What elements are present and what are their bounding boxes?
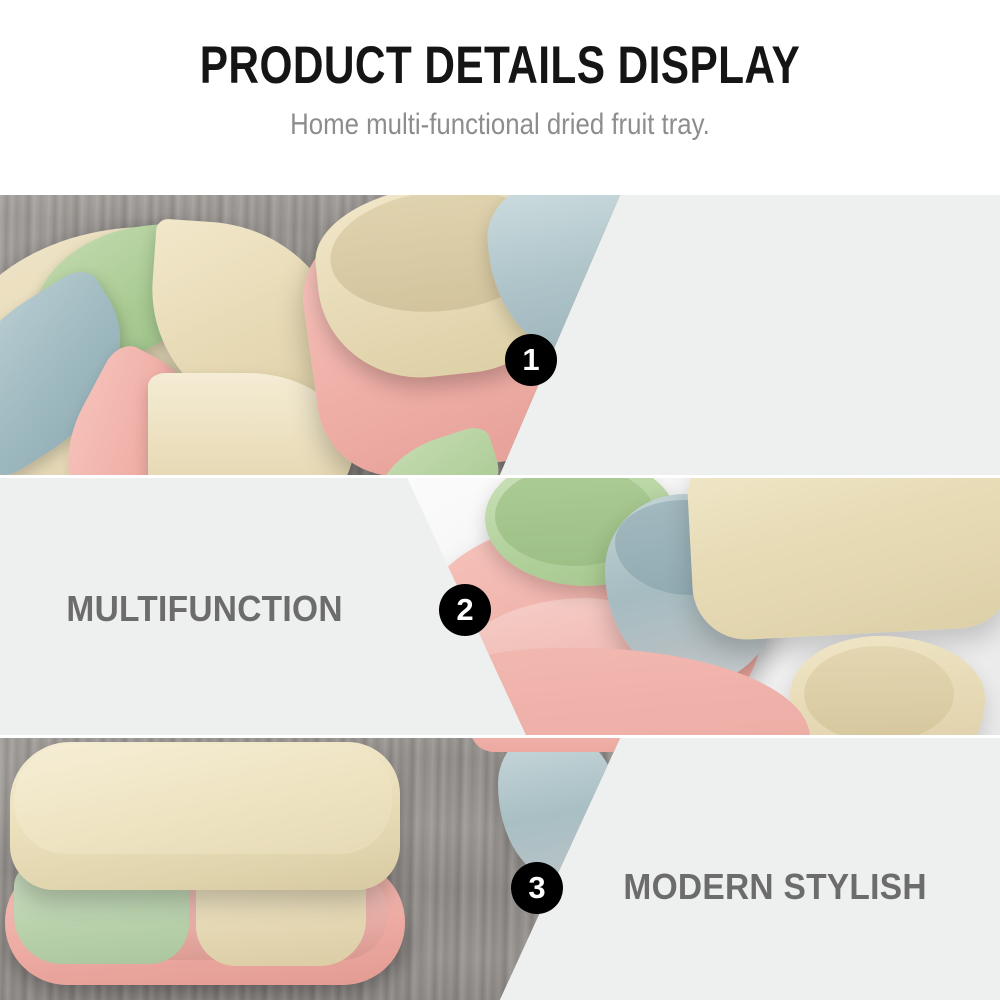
feature-panel-2: MULTIFUNCTION	[0, 478, 1000, 735]
feature-3-badge: 3	[511, 862, 563, 914]
feature-1-badge: 1	[505, 334, 557, 386]
feature-2-badge: 2	[439, 584, 491, 636]
page-subtitle: Home multi-functional dried fruit tray.	[70, 108, 930, 142]
feature-3-label: MODERN STYLISH	[623, 866, 926, 908]
cream-leaf-bowl-interior	[804, 646, 954, 735]
page-title: PRODUCT DETAILS DISPLAY	[100, 38, 900, 94]
feature-2-label: MULTIFUNCTION	[66, 588, 342, 630]
feature-panel-1: GOOD MATERIAL	[0, 195, 1000, 475]
page-header: PRODUCT DETAILS DISPLAY Home multi-funct…	[0, 0, 1000, 195]
beige-lid	[685, 478, 1000, 642]
feature-panel-3: MODERN STYLISH	[0, 738, 1000, 1000]
product-details-page: PRODUCT DETAILS DISPLAY Home multi-funct…	[0, 0, 1000, 1000]
blue-bowl-peek	[498, 738, 613, 880]
beige-lid-top-face	[14, 744, 392, 854]
pink-sliver-top	[470, 738, 620, 752]
